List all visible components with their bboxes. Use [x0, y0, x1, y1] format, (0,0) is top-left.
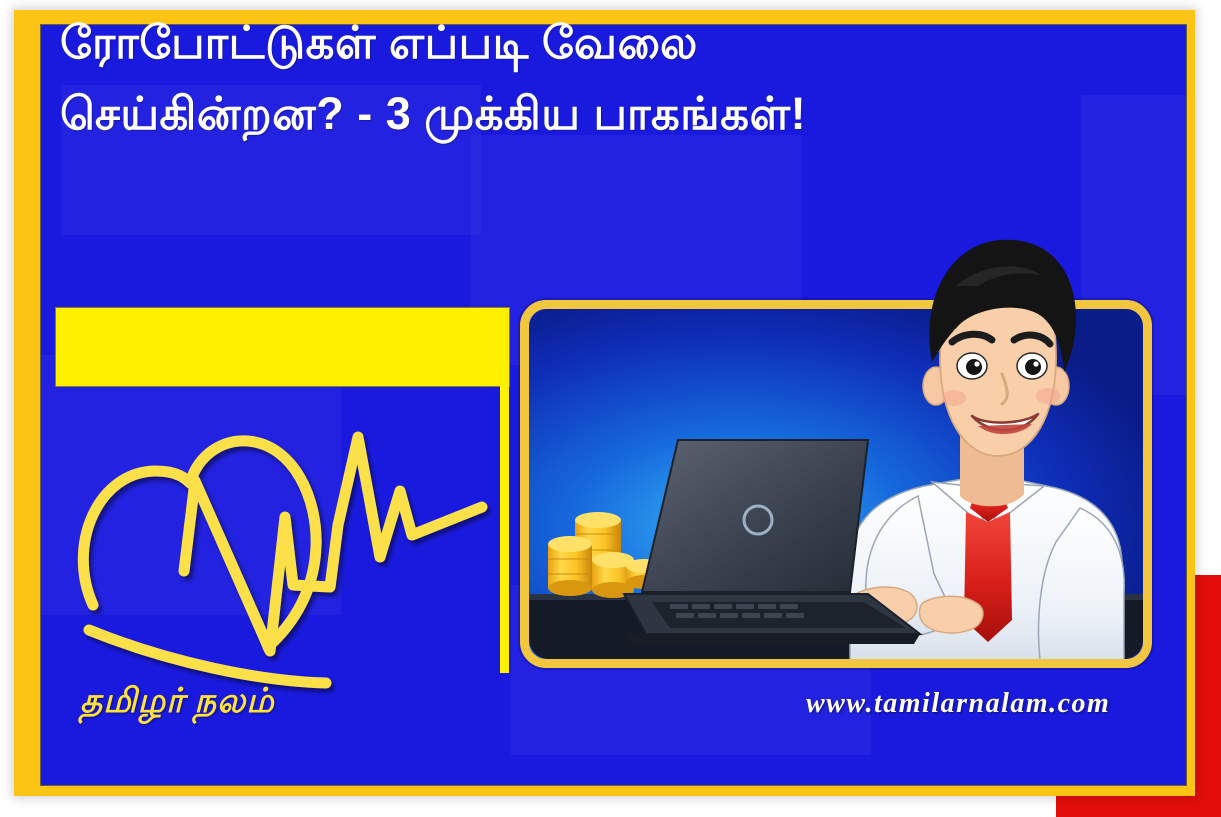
headline-line-1: ரோபோட்டுகள் எப்படி வேலை — [60, 16, 1070, 69]
brand-name-label: தமிழர் நலம் — [80, 683, 440, 725]
illustration-card — [520, 300, 1152, 668]
website-url-label: www.tamilarnalam.com — [806, 688, 1110, 720]
heart-ecg-icon — [80, 395, 500, 680]
yellow-banner-bar — [55, 307, 510, 387]
headline-line-2: செய்கின்றன? - 3 முக்கிய பாகங்கள்! — [60, 87, 1070, 140]
headline-block: ரோபோட்டுகள் எப்படி வேலை செய்கின்றன? - 3 … — [60, 16, 1070, 140]
poster-canvas: ரோபோட்டுகள் எப்படி வேலை செய்கின்றன? - 3 … — [0, 0, 1221, 817]
yellow-vertical-rule — [500, 385, 509, 673]
